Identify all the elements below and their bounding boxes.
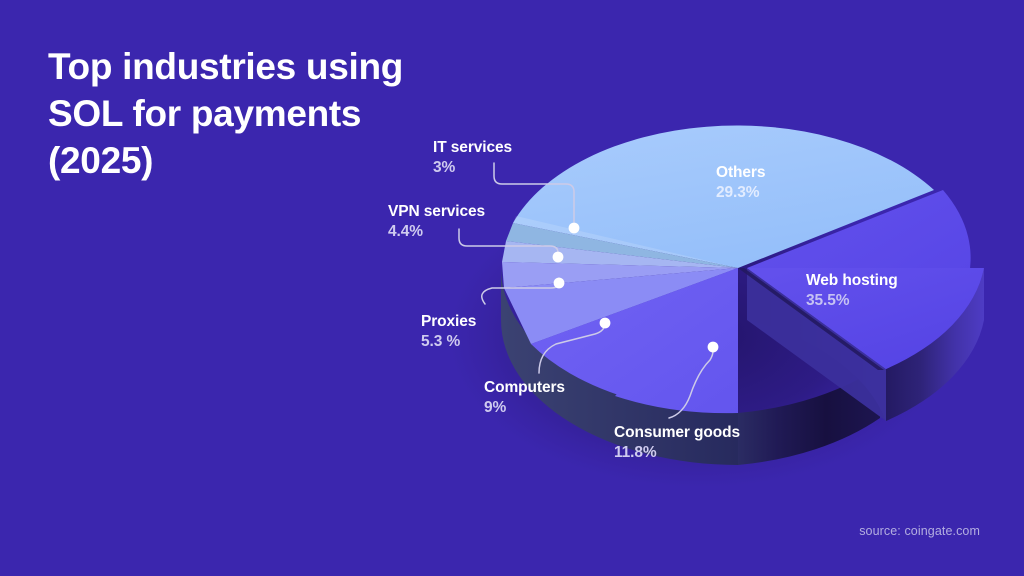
- leader-dot-computers: [600, 318, 611, 329]
- callout-proxies-percent: 5.3 %: [421, 332, 476, 352]
- callout-vpn-services-percent: 4.4%: [388, 222, 485, 242]
- callout-consumer-goods-name: Consumer goods: [614, 423, 740, 443]
- callout-it-services: IT services 3%: [433, 138, 512, 178]
- callout-vpn-services-name: VPN services: [388, 202, 485, 222]
- callout-it-services-name: IT services: [433, 138, 512, 158]
- callout-consumer-goods-percent: 11.8%: [614, 443, 740, 463]
- callout-proxies-name: Proxies: [421, 312, 476, 332]
- slice-label-others: Others 29.3%: [716, 163, 765, 204]
- callout-consumer-goods: Consumer goods 11.8%: [614, 423, 740, 463]
- callout-proxies: Proxies 5.3 %: [421, 312, 476, 352]
- slice-label-others-name: Others: [716, 163, 765, 183]
- slice-label-web-hosting: Web hosting 35.5%: [806, 271, 898, 312]
- callout-computers: Computers 9%: [484, 378, 565, 418]
- slice-label-web-hosting-percent: 35.5%: [806, 291, 898, 311]
- infographic-canvas: Top industries using SOL for payments (2…: [0, 0, 1024, 576]
- callout-it-services-percent: 3%: [433, 158, 512, 178]
- slice-label-others-percent: 29.3%: [716, 183, 765, 203]
- leader-dot-consumer-goods: [708, 342, 719, 353]
- callout-computers-percent: 9%: [484, 398, 565, 418]
- callout-computers-name: Computers: [484, 378, 565, 398]
- leader-dot-vpn-services: [553, 252, 564, 263]
- leader-dot-proxies: [554, 278, 565, 289]
- slice-label-web-hosting-name: Web hosting: [806, 271, 898, 291]
- callout-vpn-services: VPN services 4.4%: [388, 202, 485, 242]
- leader-dot-it-services: [569, 223, 580, 234]
- source-attribution: source: coingate.com: [859, 524, 980, 538]
